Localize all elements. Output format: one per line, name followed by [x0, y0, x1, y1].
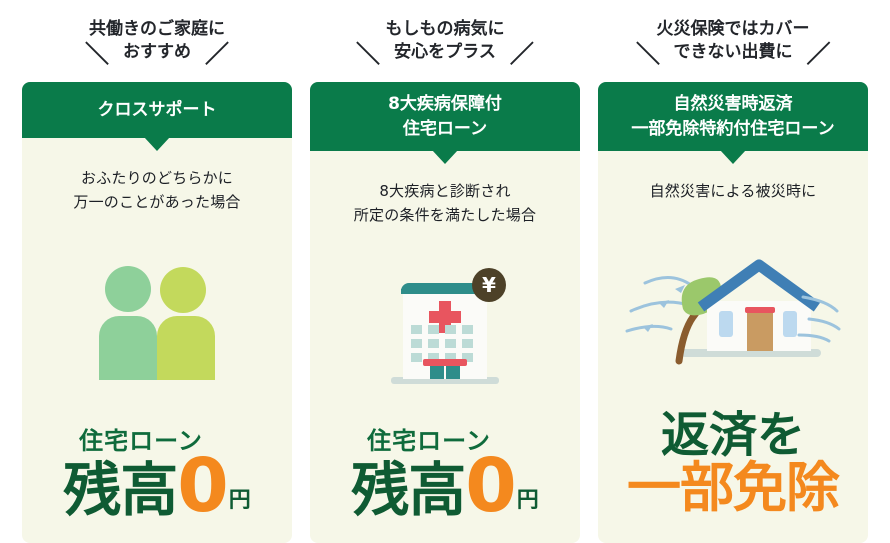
plan-illustration: [598, 203, 868, 410]
headline-unit: 円: [515, 491, 539, 517]
catch-line-2-row: ／ できない出費に ／: [598, 40, 868, 64]
catch-line-1: 火災保険ではカバー: [657, 18, 810, 41]
plan-column-8-diseases: もしもの病気に ／ 安心をプラス ／ 8大疾病保障付 住宅ローン 8大疾病と診断…: [310, 0, 580, 543]
headline-main-row: 残高 0 円: [351, 455, 539, 517]
plan-title-line-2: 一部免除特約付住宅ローン: [631, 117, 834, 142]
plan-card[interactable]: クロスサポート おふたりのどちらかに 万一のことがあった場合 住宅ローン 残高: [22, 82, 292, 543]
plan-title-line-1: クロスサポート: [98, 98, 217, 123]
plan-illustration: [22, 214, 292, 429]
catch-copy: 共働きのご家庭に ／ おすすめ ／: [22, 0, 292, 82]
plan-column-disaster-relief: 火災保険ではカバー ／ できない出費に ／ 自然災害時返済 一部免除特約付住宅ロ…: [598, 0, 868, 543]
headline-line-1: 返済を: [661, 410, 805, 460]
catch-line-1: 共働きのご家庭に: [89, 18, 225, 41]
plan-headline: 住宅ローン 残高 0 円: [22, 429, 292, 543]
catch-copy: 火災保険ではカバー ／ できない出費に ／: [598, 0, 868, 82]
plan-description-line-1: 自然災害による被災時に: [650, 179, 817, 203]
catch-line-1: もしもの病気に: [386, 18, 505, 41]
slash-left-icon: ／: [356, 42, 380, 66]
plan-description-line-2: 所定の条件を満たした場合: [354, 203, 536, 227]
headline-line-2: 一部免除: [627, 460, 839, 517]
plan-title-line-1: 自然災害時返済: [674, 92, 793, 117]
plan-card-header: クロスサポート: [22, 82, 292, 138]
plan-card[interactable]: 自然災害時返済 一部免除特約付住宅ローン 自然災害による被災時に: [598, 82, 868, 543]
slash-right-icon: ／: [510, 42, 534, 66]
headline-amount: 0: [465, 455, 515, 517]
headline-main: 残高: [351, 464, 465, 517]
slash-left-icon: ／: [85, 42, 109, 66]
headline-amount: 0: [177, 455, 227, 517]
house-storm-icon: [623, 245, 843, 369]
plan-illustration: ¥: [310, 227, 580, 429]
plan-description-line-1: おふたりのどちらかに: [73, 166, 240, 190]
catch-line-2: できない出費に: [674, 41, 793, 64]
hospital-yen-icon: ¥: [375, 267, 515, 389]
comparison-board: 共働きのご家庭に ／ おすすめ ／ クロスサポート おふたりのどちらかに 万一の…: [0, 0, 890, 543]
headline-unit: 円: [227, 491, 251, 517]
plan-description-line-2: 万一のことがあった場合: [73, 190, 240, 214]
plan-card[interactable]: 8大疾病保障付 住宅ローン 8大疾病と診断され 所定の条件を満たした場合: [310, 82, 580, 543]
slash-left-icon: ／: [636, 42, 660, 66]
headline-main: 残高: [63, 464, 177, 517]
catch-line-2-row: ／ おすすめ ／: [22, 40, 292, 64]
plan-headline: 返済を 一部免除: [598, 410, 868, 543]
plan-card-header: 自然災害時返済 一部免除特約付住宅ローン: [598, 82, 868, 151]
slash-right-icon: ／: [807, 42, 831, 66]
plan-headline: 住宅ローン 残高 0 円: [310, 429, 580, 543]
catch-line-2: おすすめ: [123, 41, 191, 64]
slash-right-icon: ／: [205, 42, 229, 66]
svg-text:¥: ¥: [482, 273, 496, 297]
headline-kicker: 住宅ローン: [79, 429, 203, 453]
headline-main-row: 残高 0 円: [63, 455, 251, 517]
plan-description-line-1: 8大疾病と診断され: [354, 179, 536, 203]
two-people-icon: [82, 262, 232, 380]
plan-column-cross-support: 共働きのご家庭に ／ おすすめ ／ クロスサポート おふたりのどちらかに 万一の…: [22, 0, 292, 543]
plan-card-header: 8大疾病保障付 住宅ローン: [310, 82, 580, 151]
header-notch-icon: [144, 137, 170, 151]
catch-copy: もしもの病気に ／ 安心をプラス ／: [310, 0, 580, 82]
header-notch-icon: [432, 150, 458, 164]
catch-line-2: 安心をプラス: [394, 41, 496, 64]
plan-title-line-1: 8大疾病保障付: [388, 92, 502, 117]
plan-title-line-2: 住宅ローン: [403, 117, 487, 142]
headline-kicker: 住宅ローン: [367, 429, 491, 453]
header-notch-icon: [720, 150, 746, 164]
catch-line-2-row: ／ 安心をプラス ／: [310, 40, 580, 64]
